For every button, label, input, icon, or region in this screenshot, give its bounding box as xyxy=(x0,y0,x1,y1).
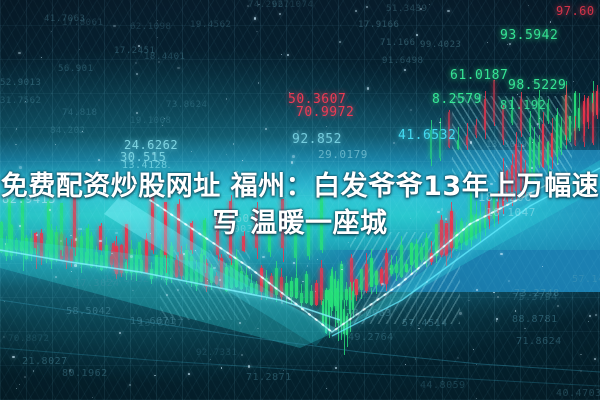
headline-line-2: 写 温暖一座城 xyxy=(213,206,388,241)
headline-line-1: 免费配资炒股网址 福州：白发爷爷13年上万幅速 xyxy=(1,169,599,204)
stock-banner-image: 93.594297.6061.018798.52298.257981.19250… xyxy=(0,0,600,400)
headline-block: 免费配资炒股网址 福州：白发爷爷13年上万幅速 写 温暖一座城 xyxy=(0,160,600,250)
